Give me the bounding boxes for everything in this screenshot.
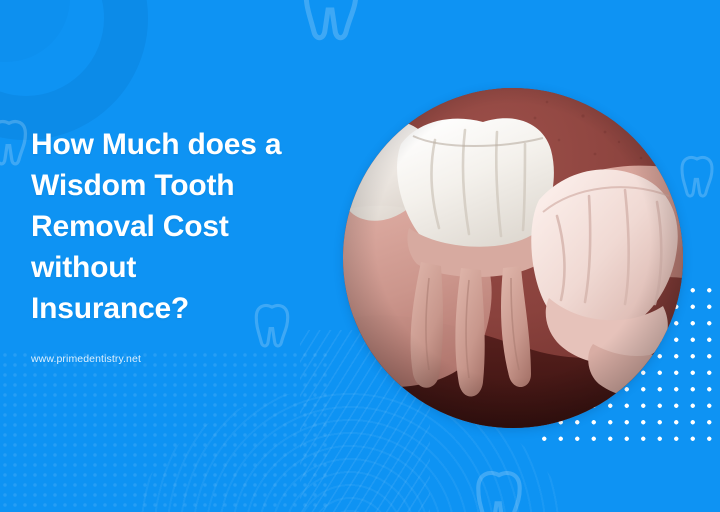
dental-illustration-graphic bbox=[343, 88, 683, 428]
dental-illustration bbox=[343, 88, 683, 428]
dental-banner: How Much does a Wisdom Tooth Removal Cos… bbox=[0, 0, 720, 512]
tooth-watermark-top-icon bbox=[296, 0, 366, 46]
copy-block: How Much does a Wisdom Tooth Removal Cos… bbox=[31, 124, 331, 365]
ring-inner-decoration bbox=[0, 0, 70, 62]
tooth-watermark-bottom-icon bbox=[470, 466, 528, 512]
ring-decoration bbox=[0, 0, 148, 140]
site-url: www.primedentistry.net bbox=[31, 353, 331, 365]
tooth-watermark-left-icon bbox=[0, 116, 32, 170]
page-title: How Much does a Wisdom Tooth Removal Cos… bbox=[31, 124, 331, 329]
soft-dot-grid-decoration bbox=[0, 350, 330, 512]
tooth-watermark-right-icon bbox=[676, 152, 718, 202]
